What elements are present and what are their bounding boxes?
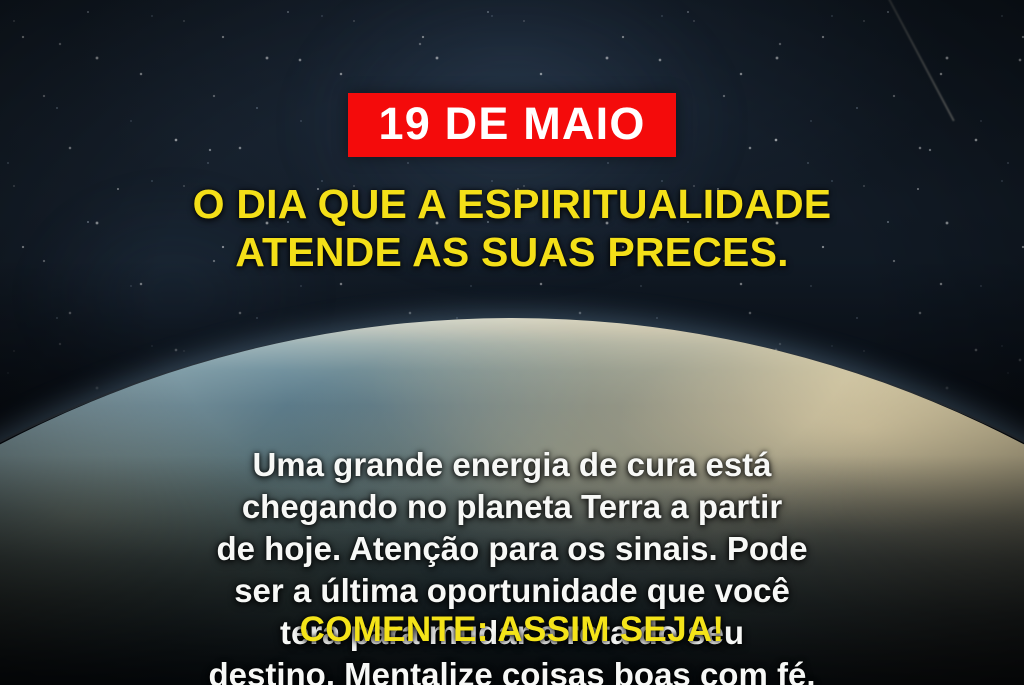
- headline-line-2: ATENDE AS SUAS PRECES.: [72, 229, 952, 277]
- poster-content: 19 DE MAIO O DIA QUE A ESPIRITUALIDADE A…: [0, 0, 1024, 685]
- body-line: chegando no planeta Terra a partir: [72, 486, 952, 528]
- body-line: de hoje. Atenção para os sinais. Pode: [72, 528, 952, 570]
- body-line: ser a última oportunidade que você: [72, 570, 952, 612]
- headline: O DIA QUE A ESPIRITUALIDADE ATENDE AS SU…: [72, 181, 952, 277]
- call-to-action-text: COMENTE: ASSIM SEJA!: [300, 612, 725, 647]
- body-line: Uma grande energia de cura está: [72, 444, 952, 486]
- headline-line-1: O DIA QUE A ESPIRITUALIDADE: [72, 181, 952, 229]
- poster: 19 DE MAIO O DIA QUE A ESPIRITUALIDADE A…: [0, 0, 1024, 685]
- date-badge: 19 DE MAIO: [348, 93, 675, 157]
- body-line: destino. Mentalize coisas boas com fé.: [72, 654, 952, 685]
